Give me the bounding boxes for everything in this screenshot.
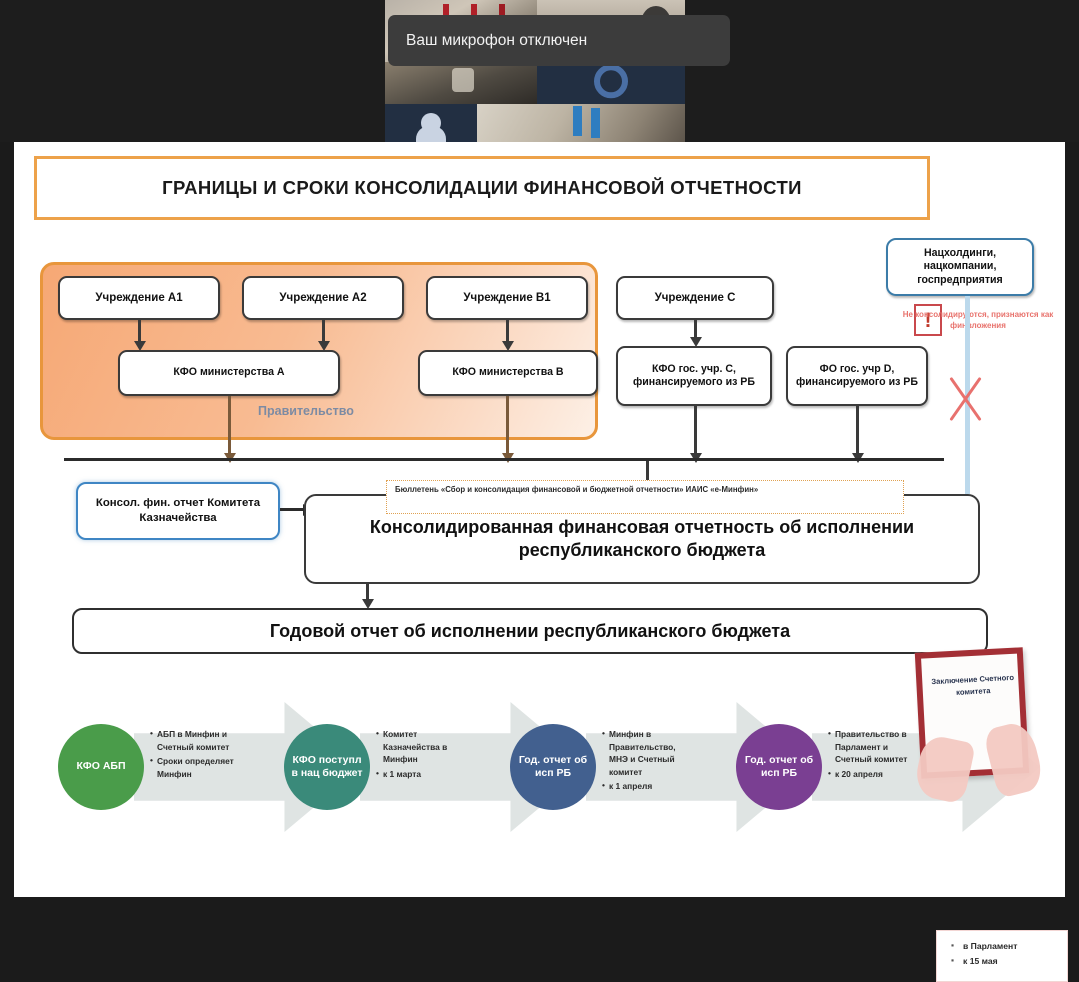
participant-tile[interactable] (477, 104, 685, 142)
arrow-a2-to-kfo-a (322, 320, 325, 342)
person-icon (421, 113, 441, 133)
timeline-bullet: Минфин в Правительство, МНЭ и Счетный ко… (602, 728, 688, 778)
timeline-step-notes-2: Комитет Казначейства в Минфин к 1 марта (376, 728, 462, 782)
video-conference-strip: Ваш микрофон отключен (0, 0, 1079, 142)
node-institution-c[interactable]: Учреждение С (616, 276, 774, 320)
timeline-bullet: к 1 марта (376, 768, 462, 781)
arrow-treasury-to-consolidated (280, 508, 304, 511)
toast-message: Ваш микрофон отключен (406, 32, 587, 50)
bulletin-note: Бюллетень «Сбор и консолидация финансово… (386, 480, 904, 514)
clipboard-illustration: Заключение Счетного комитета (912, 650, 1032, 810)
timeline: КФО АБП КФО поступл в нац бюджет Год. от… (38, 702, 1038, 882)
timeline-bullet: к 1 апреля (602, 780, 688, 793)
timeline-bullet: Правительство в Парламент и Счетный коми… (828, 728, 914, 766)
arrow-kfo-c-down (694, 406, 697, 454)
slide-title-box: ГРАНИЦЫ И СРОКИ КОНСОЛИДАЦИИ ФИНАНСОВОЙ … (34, 156, 930, 220)
participant-tile[interactable] (385, 104, 477, 142)
arrow-kfo-b-down (506, 396, 509, 454)
timeline-step-circle-4[interactable]: Год. отчет об исп РБ (736, 724, 822, 810)
government-region-label: Правительство (258, 404, 354, 418)
node-kfo-gov-institution-c[interactable]: КФО гос. учр. С, финансируемого из РБ (616, 346, 772, 406)
timeline-step-notes-4: Правительство в Парламент и Счетный коми… (828, 728, 914, 782)
page-title: ГРАНИЦЫ И СРОКИ КОНСОЛИДАЦИИ ФИНАНСОВОЙ … (162, 177, 802, 199)
arrow-consolidated-to-annual (366, 584, 369, 600)
presentation-slide: ГРАНИЦЫ И СРОКИ КОНСОЛИДАЦИИ ФИНАНСОВОЙ … (14, 142, 1065, 897)
final-delivery-note: в Парламент к 15 мая (936, 930, 1068, 982)
node-kfo-ministry-b[interactable]: КФО министерства В (418, 350, 598, 396)
node-kfo-ministry-a[interactable]: КФО министерства А (118, 350, 340, 396)
node-fo-gov-institution-d[interactable]: ФО гос. учр D, финансируемого из РБ (786, 346, 928, 406)
national-entities-note: Не консолидируются, признаются как финвл… (890, 310, 1066, 332)
timeline-step-circle-1[interactable]: КФО АБП (58, 724, 144, 810)
microphone-muted-toast: Ваш микрофон отключен (388, 15, 730, 66)
arrow-b1-to-kfo-b (506, 320, 509, 342)
timeline-step-notes-3: Минфин в Правительство, МНЭ и Счетный ко… (602, 728, 688, 795)
final-note-bullet: в Парламент (951, 939, 1061, 954)
consolidation-bus-line (64, 458, 944, 461)
node-national-entities[interactable]: Нацхолдинги, нацкомпании, госпредприятия (886, 238, 1034, 296)
timeline-bullet: АБП в Минфин и Счетный комитет (150, 728, 236, 753)
arrow-c-to-kfo-c (694, 320, 697, 338)
timeline-step-notes-1: АБП в Минфин и Счетный комитет Сроки опр… (150, 728, 236, 782)
node-institution-a2[interactable]: Учреждение А2 (242, 276, 404, 320)
node-treasury-report[interactable]: Консол. фин. отчет Комитета Казначейства (76, 482, 280, 540)
avatar-ring-icon (594, 64, 628, 98)
node-institution-a1[interactable]: Учреждение А1 (58, 276, 220, 320)
timeline-bullet: Комитет Казначейства в Минфин (376, 728, 462, 766)
final-note-bullet: к 15 мая (951, 954, 1061, 969)
cross-out-icon (944, 375, 988, 423)
participant-tile[interactable] (537, 62, 685, 104)
arrow-a1-to-kfo-a (138, 320, 141, 342)
node-annual-report[interactable]: Годовой отчет об исполнении республиканс… (72, 608, 988, 654)
participant-tile[interactable] (385, 62, 537, 104)
node-institution-b1[interactable]: Учреждение В1 (426, 276, 588, 320)
arrow-fo-d-down (856, 406, 859, 454)
timeline-step-circle-3[interactable]: Год. отчет об исп РБ (510, 724, 596, 810)
timeline-step-circle-2[interactable]: КФО поступл в нац бюджет (284, 724, 370, 810)
timeline-bullet: к 20 апреля (828, 768, 914, 781)
clipboard-text: Заключение Счетного комитета (927, 672, 1018, 700)
arrow-kfo-a-down (228, 396, 231, 454)
timeline-bullet: Сроки определяет Минфин (150, 755, 236, 780)
